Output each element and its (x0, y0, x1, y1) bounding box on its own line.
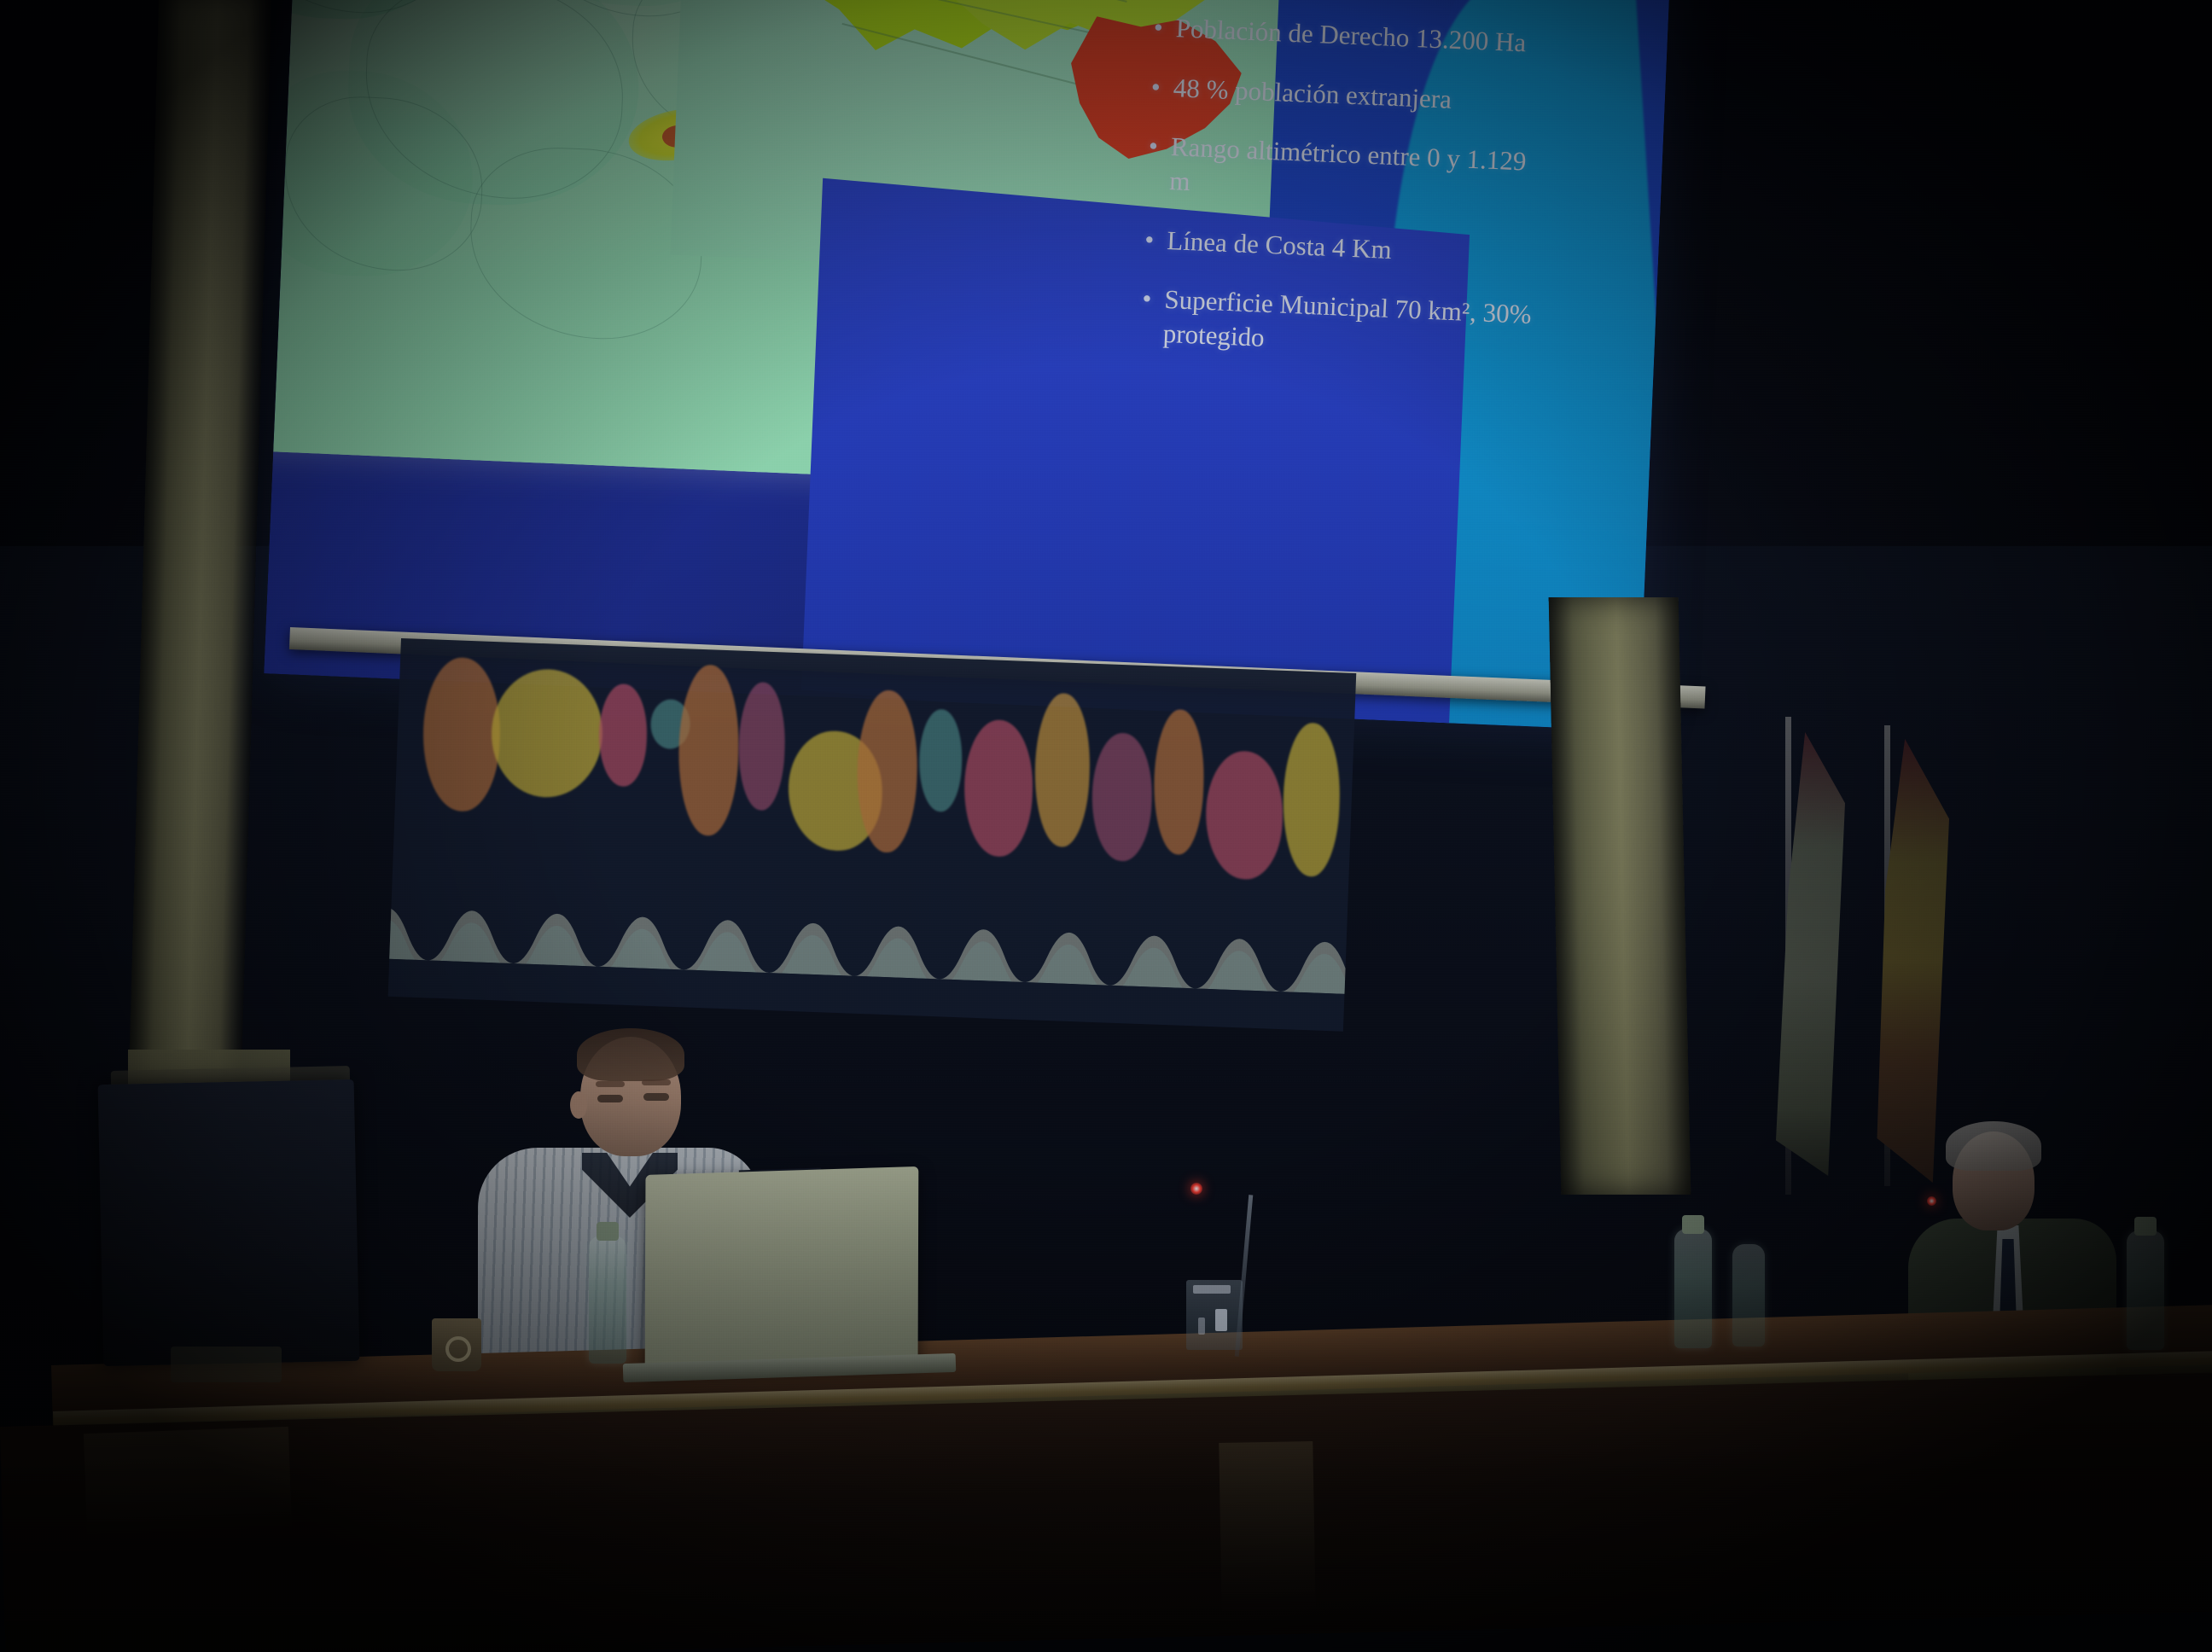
computer-monitor (98, 1079, 360, 1366)
projection-screen: áfica Población de Derecho 13.200 Ha 48 … (264, 0, 1674, 731)
coffee-cup-logo (445, 1336, 471, 1362)
presenter-ear (570, 1091, 587, 1119)
photo-canvas: áfica Población de Derecho 13.200 Ha 48 … (0, 0, 2212, 1652)
panelist-hair (1946, 1121, 2041, 1171)
presenter-eye (597, 1095, 623, 1102)
decorative-wall-mural (388, 638, 1357, 1032)
slide-bullet-list: Población de Derecho 13.200 Ha 48 % pobl… (1139, 10, 1555, 392)
status-led-red (1927, 1196, 1936, 1206)
slide-bullet-item: Superficie Municipal 70 km², 30% protegi… (1162, 282, 1544, 366)
slide-bullet-item: 48 % población extranjera (1173, 71, 1552, 120)
glass-highlight (1198, 1318, 1205, 1335)
presenter-brow (596, 1081, 625, 1087)
computer-monitor-stand (171, 1347, 282, 1382)
water-bottle (2127, 1230, 2164, 1350)
laptop[interactable] (645, 1166, 919, 1371)
table-highlight (84, 1427, 292, 1536)
water-bottle-cap (1682, 1215, 1704, 1234)
water-bottle (1674, 1229, 1712, 1348)
water-bottle-cap (597, 1222, 619, 1241)
glass-highlight (1215, 1309, 1227, 1331)
status-led-red (1190, 1183, 1202, 1195)
table-highlight (1219, 1441, 1315, 1614)
water-bottle (1732, 1244, 1765, 1347)
presenter-hair (577, 1028, 684, 1081)
presenter-brow (642, 1079, 671, 1085)
water-bottle-cap (2134, 1217, 2157, 1236)
glass-highlight (1193, 1285, 1231, 1294)
mural-wave-band (388, 873, 1357, 996)
presenter-eye (643, 1093, 669, 1101)
column-right (1549, 597, 1691, 1195)
slide-bullet-item: Línea de Costa 4 Km (1167, 224, 1546, 273)
water-bottle (589, 1236, 626, 1364)
slide-bullet-item: Rango altimétrico entre 0 y 1.129 m (1169, 130, 1551, 213)
presentation-slide: áfica Población de Derecho 13.200 Ha 48 … (264, 0, 1674, 731)
